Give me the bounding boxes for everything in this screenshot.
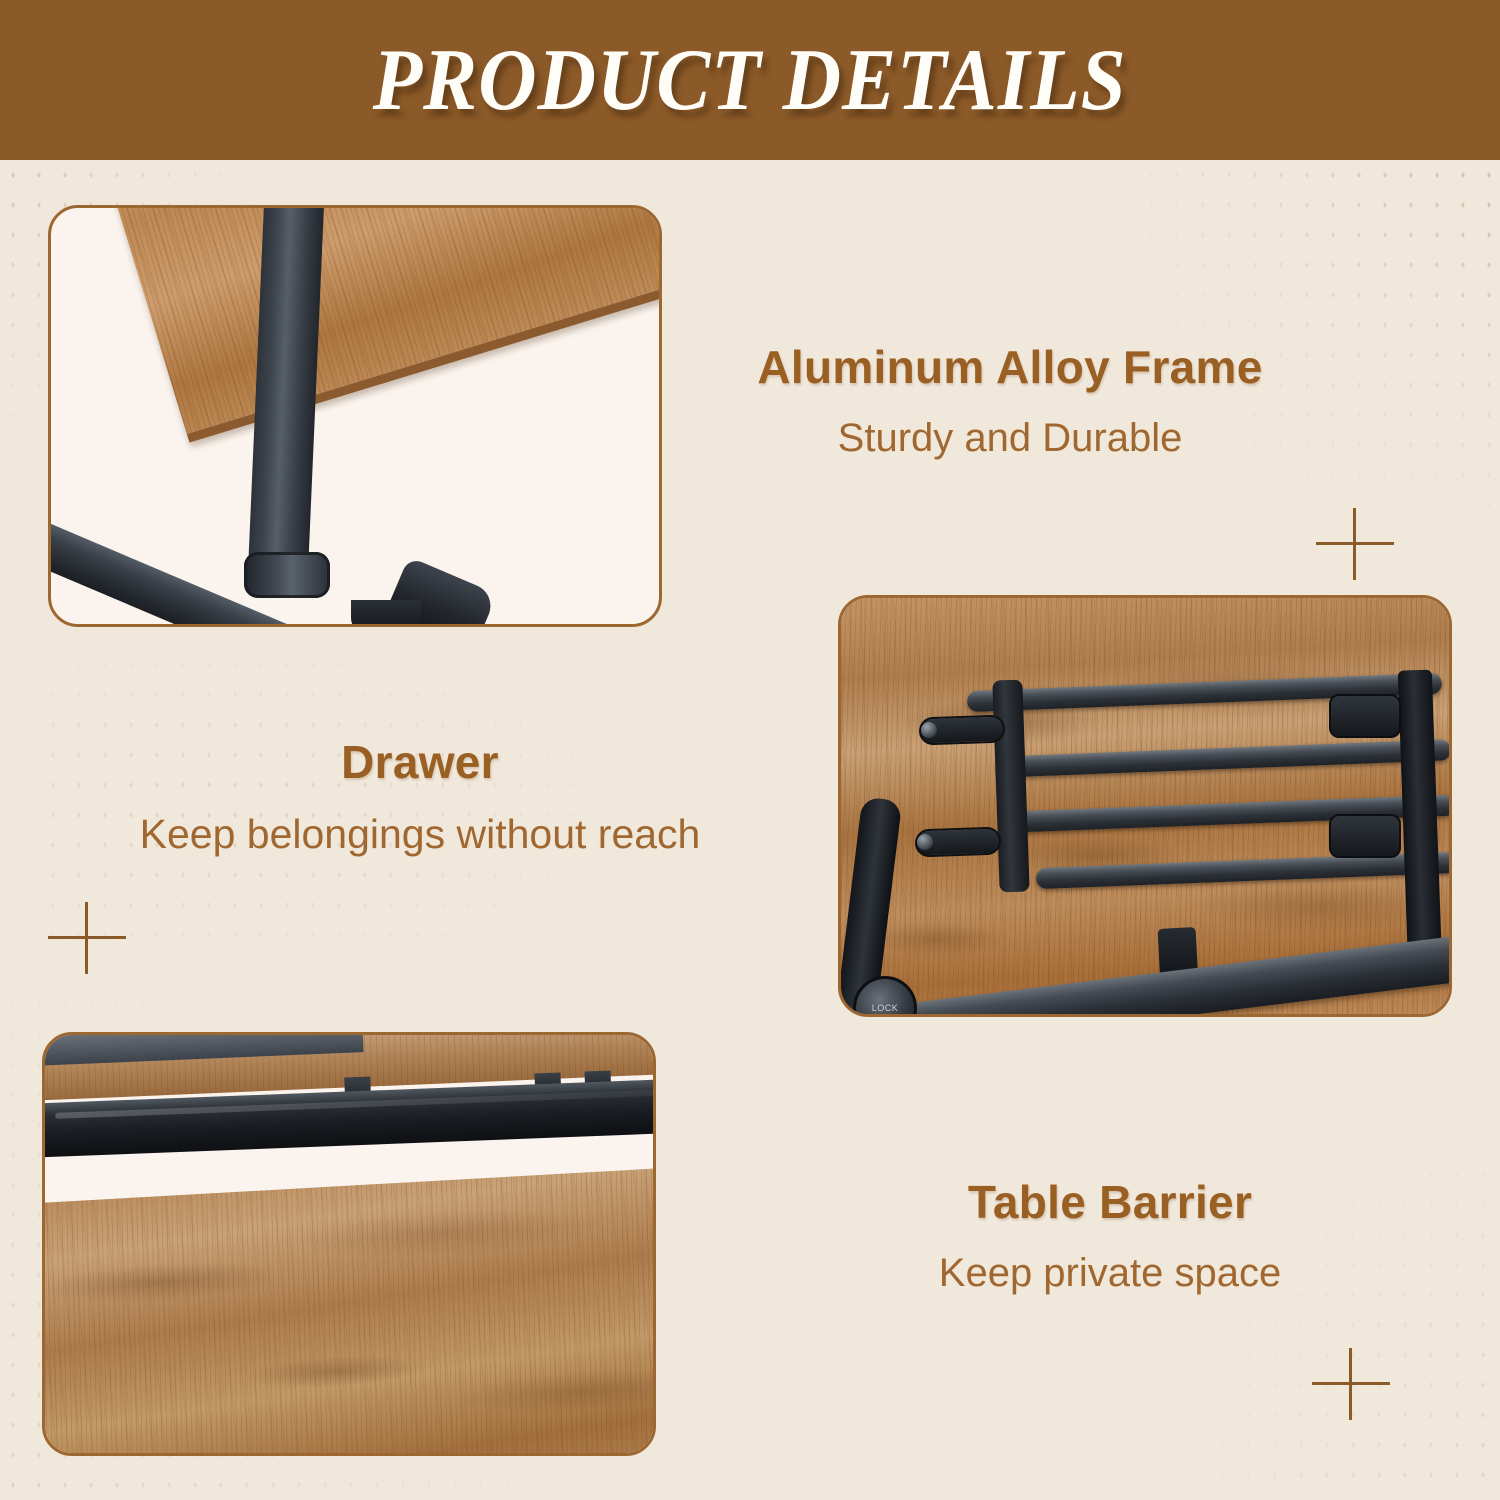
plus-mark-icon-bottom-right	[1312, 1348, 1390, 1420]
feature-text-aluminum-alloy-frame: Aluminum Alloy Frame Sturdy and Durable	[700, 340, 1320, 461]
tabletop-edge-wood	[93, 205, 662, 443]
lock-dial-label: LOCK	[872, 1003, 899, 1013]
page-title: PRODUCT DETAILS	[373, 30, 1127, 131]
drawer-hinge-lower	[1329, 814, 1401, 858]
page-header-banner: PRODUCT DETAILS	[0, 0, 1500, 160]
feature-text-table-barrier: Table Barrier Keep private space	[800, 1175, 1420, 1296]
plus-mark-vertical	[1349, 1348, 1352, 1420]
plus-mark-icon-mid-left	[48, 902, 126, 974]
drawer-hinge-upper	[1329, 694, 1401, 738]
plus-mark-vertical	[1353, 508, 1356, 580]
feature-title-drawer: Drawer	[100, 735, 740, 789]
feature-text-drawer: Drawer Keep belongings without reach	[100, 735, 740, 858]
leg-joint-collar	[244, 552, 330, 598]
feature-image-table-barrier	[42, 1032, 656, 1456]
feature-subtitle-table-barrier: Keep private space	[800, 1251, 1420, 1296]
rail-clamp-pin-lower	[917, 834, 933, 850]
feature-subtitle-aluminum-alloy-frame: Sturdy and Durable	[700, 416, 1320, 461]
feature-image-drawer: LOCK	[838, 595, 1452, 1017]
feature-image-aluminum-alloy-frame	[48, 205, 662, 627]
base-bar-foot-cap	[351, 600, 421, 627]
tabletop-wood-surface	[42, 1165, 656, 1456]
feature-title-aluminum-alloy-frame: Aluminum Alloy Frame	[700, 340, 1320, 394]
plus-mark-vertical	[85, 902, 88, 974]
feature-subtitle-drawer: Keep belongings without reach	[100, 811, 740, 858]
rail-clamp-pin-upper	[921, 722, 937, 738]
feature-title-table-barrier: Table Barrier	[800, 1175, 1420, 1229]
plus-mark-icon-top-right	[1316, 508, 1394, 580]
